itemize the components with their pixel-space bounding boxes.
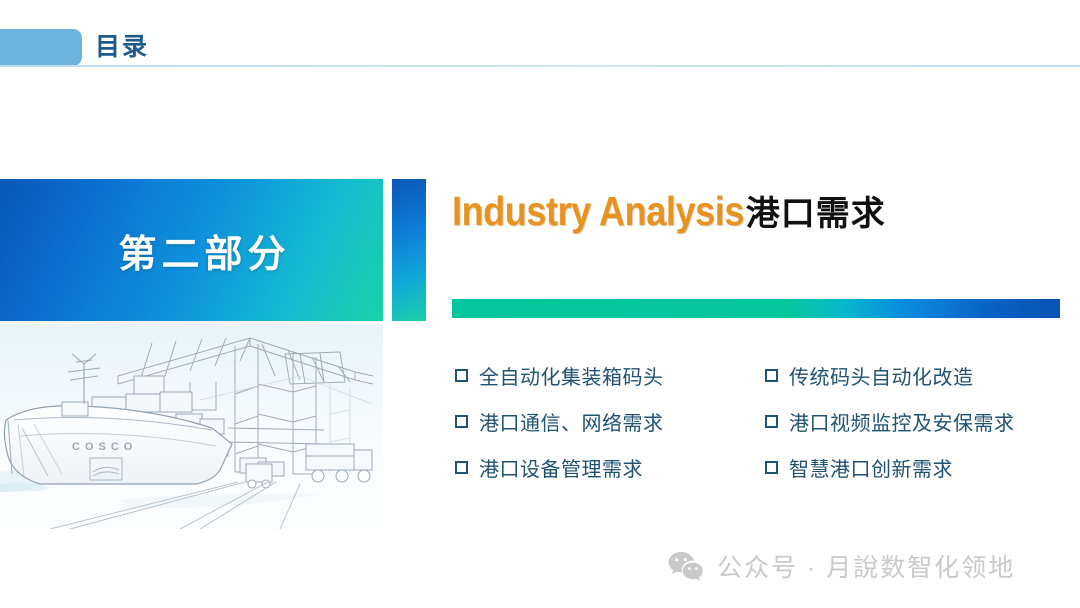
port-ship-illustration: COSCO	[0, 324, 383, 529]
bullet-list: 全自动化集装箱码头 传统码头自动化改造 港口通信、网络需求 港口视频监控及安保需…	[455, 352, 1065, 490]
watermark: 公众号 · 月說数智化领地	[668, 548, 1015, 584]
bullet-item-2-right[interactable]: 智慧港口创新需求	[765, 444, 1065, 490]
wechat-icon	[668, 551, 717, 581]
bullet-label: 智慧港口创新需求	[789, 453, 953, 482]
bullet-item-1-left[interactable]: 港口通信、网络需求	[455, 398, 765, 444]
square-bullet-icon	[455, 461, 468, 474]
bullet-item-0-right[interactable]: 传统码头自动化改造	[765, 352, 1065, 398]
section-badge-label: 第二部分	[0, 179, 383, 321]
square-bullet-icon	[765, 415, 778, 428]
bullet-item-0-left[interactable]: 全自动化集装箱码头	[455, 352, 765, 398]
square-bullet-icon	[455, 369, 468, 382]
bullet-row: 港口通信、网络需求 港口视频监控及安保需求	[455, 398, 1065, 444]
title-chinese: 港口需求	[746, 186, 886, 235]
accent-bar	[392, 179, 426, 321]
svg-text:COSCO: COSCO	[72, 441, 137, 453]
header-divider	[0, 65, 1080, 67]
tab-marker-icon	[0, 29, 82, 66]
bullet-label: 港口视频监控及安保需求	[789, 407, 1015, 436]
bullet-label: 港口设备管理需求	[479, 453, 643, 482]
bullet-label: 传统码头自动化改造	[789, 361, 974, 390]
watermark-text: 公众号 · 月說数智化领地	[717, 548, 1015, 584]
bullet-row: 港口设备管理需求 智慧港口创新需求	[455, 444, 1065, 490]
bullet-label: 港口通信、网络需求	[479, 407, 664, 436]
bullet-item-2-left[interactable]: 港口设备管理需求	[455, 444, 765, 490]
square-bullet-icon	[455, 415, 468, 428]
bullet-item-1-right[interactable]: 港口视频监控及安保需求	[765, 398, 1065, 444]
title-divider-bar	[452, 299, 1060, 318]
content-title: Industry Analysis 港口需求	[452, 186, 886, 235]
page-title: 目录	[95, 30, 149, 64]
section-badge-panel: 第二部分	[0, 179, 383, 321]
square-bullet-icon	[765, 461, 778, 474]
title-english: Industry Analysis	[452, 188, 744, 235]
bullet-row: 全自动化集装箱码头 传统码头自动化改造	[455, 352, 1065, 398]
square-bullet-icon	[765, 369, 778, 382]
page-header: 目录	[0, 0, 1080, 70]
bullet-label: 全自动化集装箱码头	[479, 361, 664, 390]
